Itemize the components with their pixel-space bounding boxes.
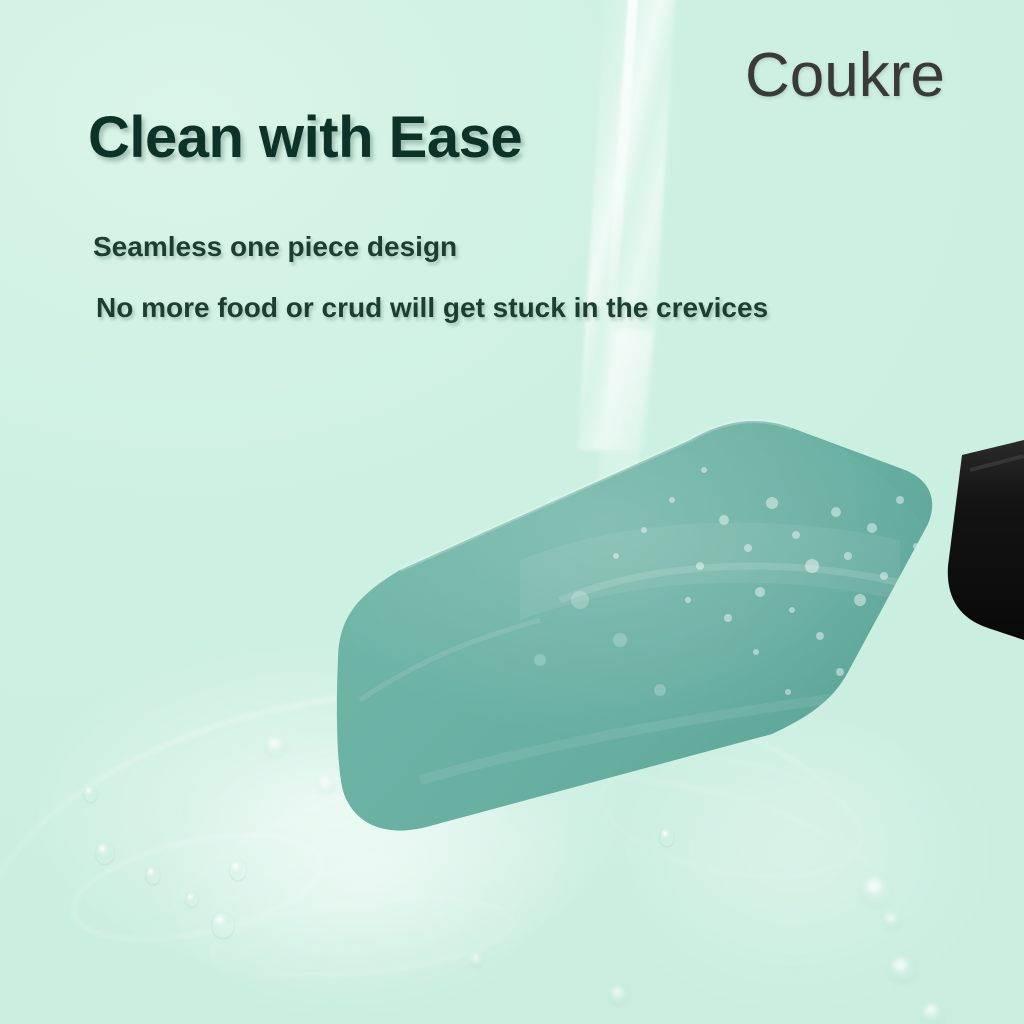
headline: Clean with Ease [88, 104, 522, 171]
spatula-handle [948, 440, 1024, 640]
product-image-canvas: Coukre Clean with Ease Seamless one piec… [0, 0, 1024, 1024]
subheadline-2: No more food or crud will get stuck in t… [96, 292, 768, 324]
subheadline-1: Seamless one piece design [93, 231, 457, 263]
brand-logo-text: Coukre [745, 40, 945, 111]
spatula-blade [337, 400, 940, 831]
